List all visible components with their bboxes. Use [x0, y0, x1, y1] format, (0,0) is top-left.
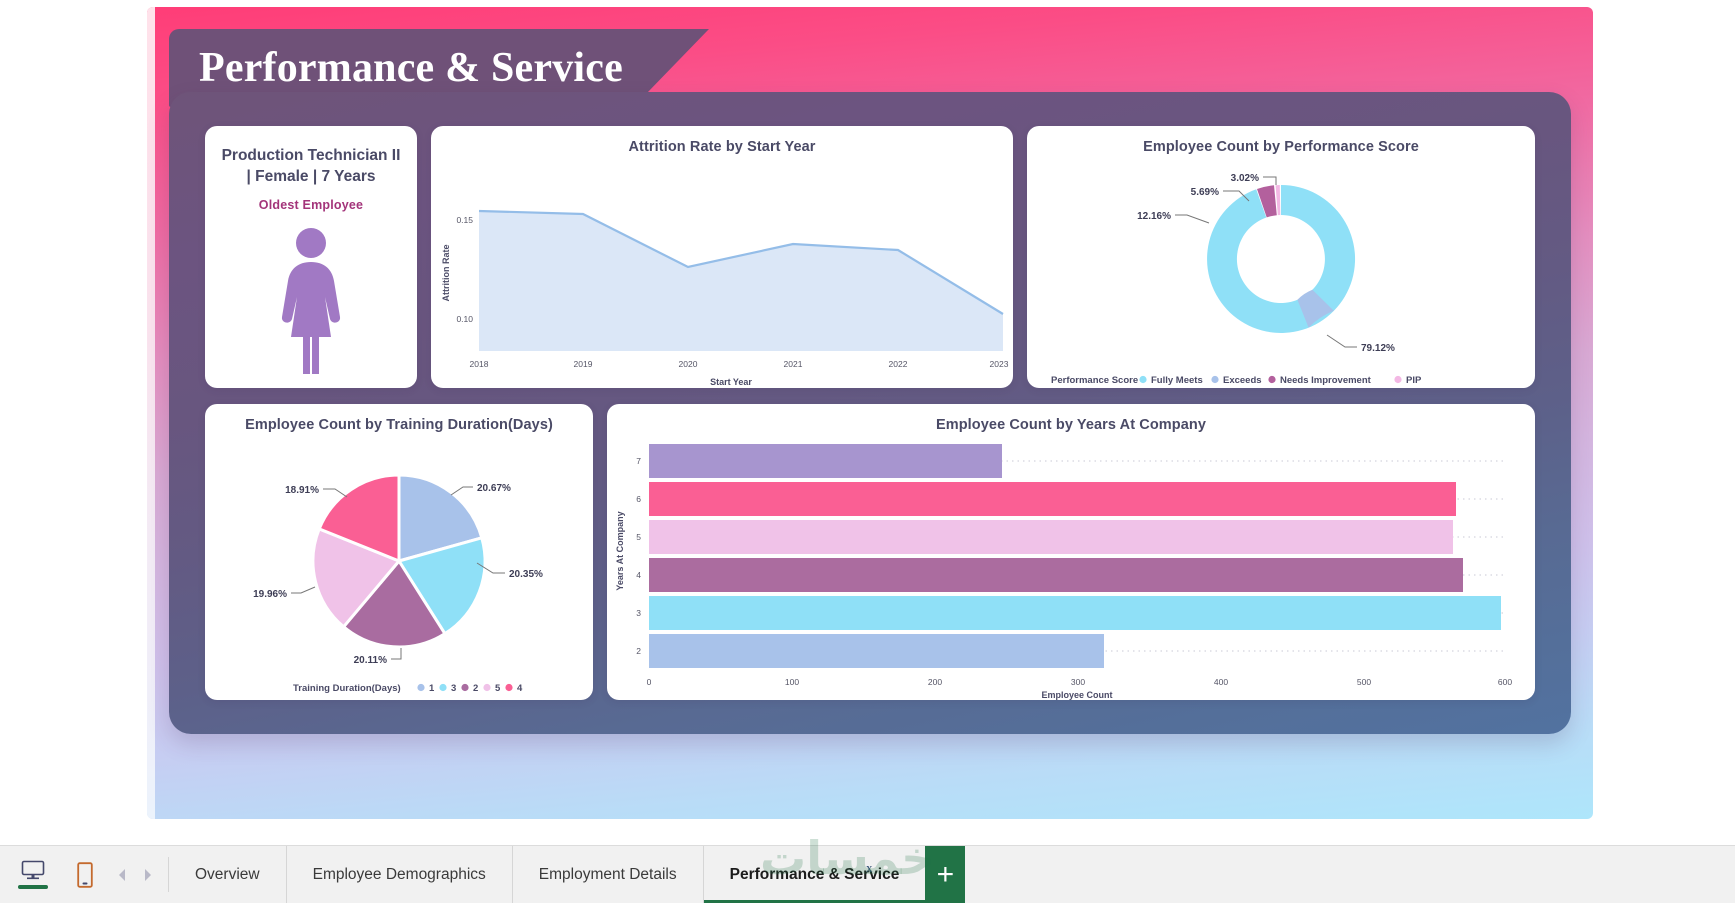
years-bar-5: [649, 520, 1453, 554]
attrition-xtick-1: 2019: [574, 359, 593, 369]
years-y-axis-label: Years At Company: [615, 511, 625, 590]
oldest-employee-title-line1: Production Technician II: [222, 147, 401, 164]
pie-legend-swatch-4: [505, 684, 512, 691]
years-x-axis-label: Employee Count: [1041, 690, 1112, 700]
years-xtick-300: 300: [1071, 677, 1085, 687]
donut-label-exceeds: 12.16%: [1137, 211, 1171, 222]
pie-leader-line-5: [291, 587, 315, 593]
years-ytick-2: 2: [636, 646, 641, 656]
sheet-tab-employment-details[interactable]: Employment Details: [513, 846, 704, 903]
donut-legend-swatch-needs-improvement: [1268, 376, 1275, 383]
oldest-employee-title-line2: | Female | 7 Years: [246, 168, 375, 185]
sheet-tab-employment-details-label: Employment Details: [539, 866, 677, 884]
pie-legend-swatch-2: [461, 684, 468, 691]
performance-chart-title: Employee Count by Performance Score: [1027, 126, 1535, 155]
attrition-xtick-2: 2020: [679, 359, 698, 369]
add-sheet-button[interactable]: +: [925, 846, 965, 903]
pie-legend-label-5: 5: [495, 683, 501, 694]
canvas-left-edge: [147, 7, 155, 819]
mobile-view-icon[interactable]: [68, 862, 102, 888]
card-performance-score: Employee Count by Performance Score: [1027, 126, 1535, 388]
attrition-x-axis-label: Start Year: [710, 377, 752, 387]
pie-legend-title: Training Duration(Days): [293, 683, 401, 694]
donut-label-needs-improvement: 5.69%: [1191, 187, 1219, 198]
years-xtick-200: 200: [928, 677, 942, 687]
donut-legend-swatch-fully-meets: [1139, 376, 1146, 383]
add-sheet-plus-icon: +: [937, 860, 955, 890]
attrition-ytick-1: 0.10: [456, 314, 473, 324]
pie-legend-label-2: 2: [473, 683, 478, 694]
years-ytick-3: 3: [636, 608, 641, 618]
attrition-chart-title: Attrition Rate by Start Year: [431, 126, 1013, 155]
attrition-y-axis-label: Attrition Rate: [441, 245, 451, 302]
donut-label-pip: 3.02%: [1231, 173, 1259, 184]
donut-leader-line-2: [1175, 215, 1209, 223]
sheet-tab-overview-label: Overview: [195, 866, 260, 884]
years-bar-3: [649, 596, 1501, 630]
sheet-tab-overview[interactable]: Overview: [169, 846, 287, 903]
pie-legend-label-1: 1: [429, 683, 435, 694]
mobile-phone-glyph: [77, 862, 93, 888]
oldest-employee-subtitle: Oldest Employee: [205, 198, 417, 212]
female-person-icon: [271, 226, 351, 376]
page-title: Performance & Service: [169, 44, 623, 92]
sheet-tab-employee-demographics[interactable]: Employee Demographics: [287, 846, 513, 903]
sheet-tab-employee-demographics-label: Employee Demographics: [313, 866, 486, 884]
donut-leader-line-1: [1327, 335, 1357, 347]
desktop-monitor-glyph: [21, 860, 45, 880]
years-bar-6: [649, 482, 1456, 516]
close-tab-x[interactable]: x: [866, 860, 873, 876]
donut-legend-title: Performance Score: [1051, 375, 1138, 386]
years-xtick-400: 400: [1214, 677, 1228, 687]
training-chart-title: Employee Count by Training Duration(Days…: [205, 404, 593, 433]
years-ytick-5: 5: [636, 532, 641, 542]
oldest-employee-title: Production Technician II | Female | 7 Ye…: [217, 146, 405, 188]
pie-legend-swatch-1: [417, 684, 424, 691]
years-bar-4: [649, 558, 1463, 592]
card-oldest-employee: Production Technician II | Female | 7 Ye…: [205, 126, 417, 388]
pie-leader-line-2: [391, 648, 401, 659]
dashboard-panel: Production Technician II | Female | 7 Ye…: [169, 92, 1571, 734]
years-ytick-6: 6: [636, 494, 641, 504]
years-ytick-4: 4: [636, 570, 641, 580]
view-toggle-group: [0, 846, 116, 903]
donut-leader-line-4: [1263, 177, 1276, 185]
previous-sheet-arrow[interactable]: [116, 868, 128, 882]
desktop-view-active-indicator: [18, 885, 48, 889]
card-training-duration: Employee Count by Training Duration(Days…: [205, 404, 593, 700]
card-attrition-rate: Attrition Rate by Start Year Attrition R…: [431, 126, 1013, 388]
donut-legend-swatch-exceeds: [1211, 376, 1218, 383]
sheet-tab-performance-service[interactable]: Performance & Service: [704, 846, 926, 903]
pie-label-4: 18.91%: [285, 485, 319, 496]
attrition-ytick-0: 0.15: [456, 215, 473, 225]
pie-legend-label-3: 3: [451, 683, 456, 694]
dashboard-canvas: Performance & Service Production Technic…: [147, 7, 1593, 819]
years-xtick-100: 100: [785, 677, 799, 687]
desktop-view-icon[interactable]: [16, 860, 50, 889]
next-sheet-arrow[interactable]: [142, 868, 154, 882]
attrition-xtick-0: 2018: [470, 359, 489, 369]
pie-label-2: 20.11%: [354, 655, 387, 666]
card-years-at-company: Employee Count by Years At Company Years…: [607, 404, 1535, 700]
training-pie-chart: 20.67% 20.35% 20.11% 19.96% 18.91% Train…: [205, 433, 593, 699]
years-chart-title: Employee Count by Years At Company: [607, 404, 1535, 433]
attrition-xtick-4: 2022: [889, 359, 908, 369]
years-xtick-600: 600: [1498, 677, 1512, 687]
donut-label-fully-meets: 79.12%: [1361, 343, 1395, 354]
attrition-xtick-5: 2023: [990, 359, 1009, 369]
years-bar-chart: Years At Company 7: [607, 433, 1535, 701]
years-ytick-7: 7: [636, 456, 641, 466]
sheet-tab-performance-service-label: Performance & Service: [730, 866, 900, 884]
years-bar-2: [649, 634, 1104, 668]
attrition-area-fill: [479, 211, 1003, 351]
years-xtick-500: 500: [1357, 677, 1371, 687]
pie-legend-label-4: 4: [517, 683, 523, 694]
attrition-area-chart: Attrition Rate 0.15 0.10 2018 2019 2020 …: [431, 155, 1013, 391]
sheet-nav-arrows: [116, 846, 168, 903]
donut-legend-label-fully-meets: Fully Meets: [1151, 375, 1203, 386]
performance-donut-chart: 79.12% 12.16% 5.69% 3.02% Performance Sc…: [1027, 155, 1535, 391]
years-bar-7: [649, 444, 1002, 478]
attrition-xtick-3: 2021: [784, 359, 803, 369]
years-xtick-0: 0: [647, 677, 652, 687]
pie-legend-swatch-3: [439, 684, 446, 691]
donut-legend-label-needs-improvement: Needs Improvement: [1280, 375, 1372, 386]
donut-legend-swatch-pip: [1394, 376, 1401, 383]
pie-label-5: 19.96%: [253, 589, 287, 600]
pie-label-1: 20.67%: [477, 483, 511, 494]
donut-legend-label-exceeds: Exceeds: [1223, 375, 1262, 386]
donut-legend-label-pip: PIP: [1406, 375, 1422, 386]
pie-label-3: 20.35%: [509, 569, 543, 580]
pie-legend-swatch-5: [483, 684, 490, 691]
